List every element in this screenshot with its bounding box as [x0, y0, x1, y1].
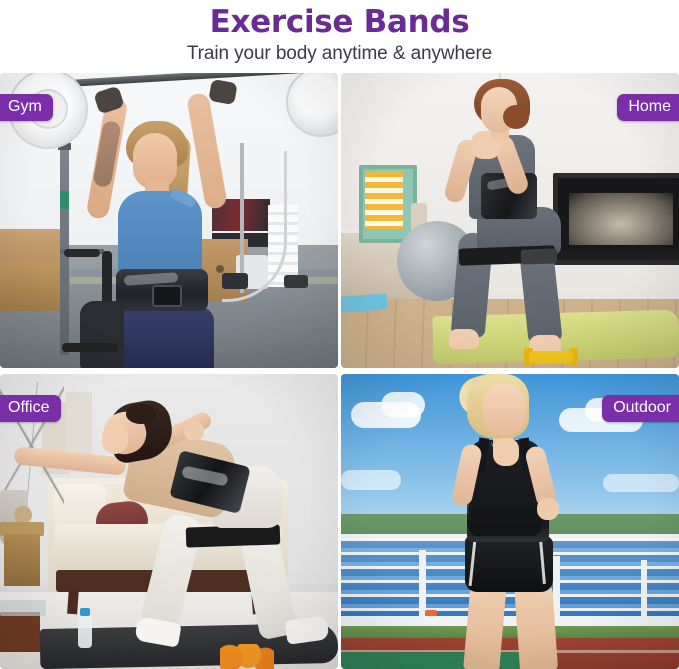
panel-home[interactable]: Home: [341, 73, 679, 368]
page-title: Exercise Bands: [0, 4, 679, 40]
page-subtitle: Train your body anytime & anywhere: [0, 40, 679, 66]
badge-home[interactable]: Home: [617, 94, 679, 121]
image-grid: Gym: [0, 73, 679, 669]
panel-office[interactable]: Office: [0, 374, 338, 669]
panel-gym[interactable]: Gym: [0, 73, 338, 368]
header: Exercise Bands Train your body anytime &…: [0, 0, 679, 66]
badge-outdoor[interactable]: Outdoor: [602, 395, 679, 422]
panel-outdoor[interactable]: Outdoor: [341, 374, 679, 669]
badge-gym[interactable]: Gym: [0, 94, 53, 121]
badge-office[interactable]: Office: [0, 395, 61, 422]
